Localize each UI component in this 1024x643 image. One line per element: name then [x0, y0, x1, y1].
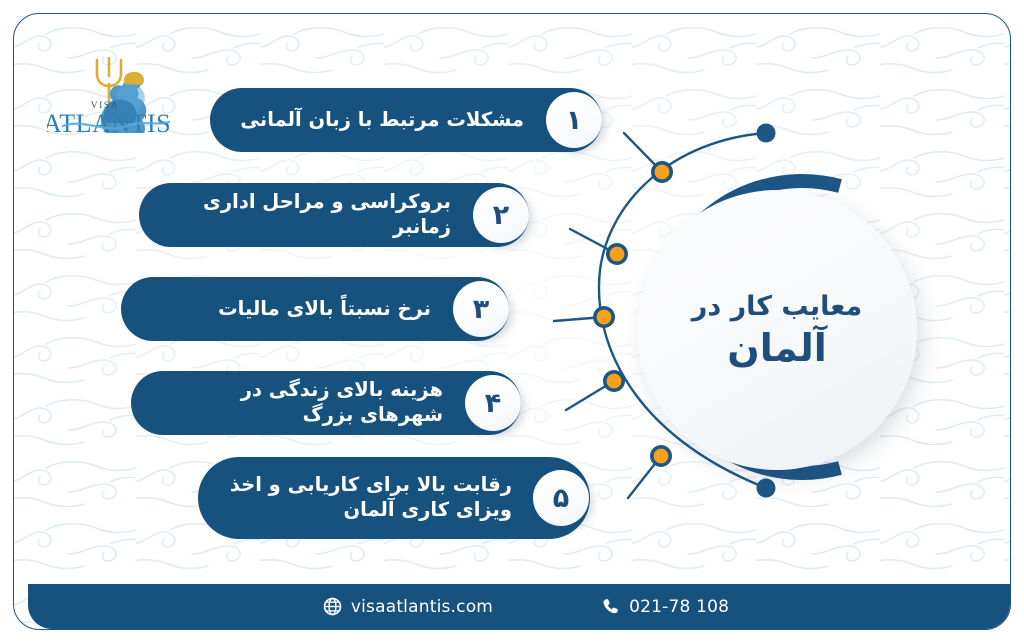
item-number-badge: ۳	[453, 281, 509, 337]
footer-phone-text: 021-78 108	[629, 597, 729, 617]
item-pill[interactable]: رقابت بالا برای کاریابی و اخذ ویزای کاری…	[198, 457, 590, 539]
list-item[interactable]: نرخ نسبتاً بالای مالیات ۳	[121, 277, 509, 341]
item-number-badge: ۵	[533, 470, 589, 526]
hub-title: معایب کار در آلمان	[637, 190, 917, 470]
item-label: بروکراسی و مراحل اداری زمانبر	[165, 190, 451, 240]
item-number-badge: ۴	[465, 375, 521, 431]
brand-logo: VISA ATLANTIS	[47, 44, 175, 144]
item-label: رقابت بالا برای کاریابی و اخذ ویزای کاری…	[224, 473, 512, 523]
infographic-root: VISA ATLANTIS	[0, 0, 1024, 643]
item-pill[interactable]: بروکراسی و مراحل اداری زمانبر	[139, 183, 529, 247]
globe-icon	[323, 597, 342, 616]
list-item[interactable]: هزینه بالای زندگی در شهرهای بزرگ ۴	[131, 371, 521, 435]
footer-website[interactable]: visaatlantis.com	[323, 597, 493, 617]
item-pill[interactable]: نرخ نسبتاً بالای مالیات	[121, 277, 509, 341]
infographic-canvas: VISA ATLANTIS	[13, 13, 1011, 630]
list-item[interactable]: رقابت بالا برای کاریابی و اخذ ویزای کاری…	[198, 457, 590, 539]
central-hub: معایب کار در آلمان	[604, 174, 949, 479]
item-label: مشکلات مرتبط با زبان آلمانی	[236, 108, 524, 133]
item-pill[interactable]: هزینه بالای زندگی در شهرهای بزرگ	[131, 371, 521, 435]
item-number-badge: ۲	[473, 187, 529, 243]
footer-phone[interactable]: 021-78 108	[601, 597, 729, 617]
hub-title-line1: معایب کار در	[692, 291, 862, 322]
hub-title-line2: آلمان	[727, 328, 826, 370]
footer-website-text: visaatlantis.com	[351, 597, 493, 617]
list-item[interactable]: مشکلات مرتبط با زبان آلمانی ۱	[210, 88, 602, 152]
list-item[interactable]: بروکراسی و مراحل اداری زمانبر ۲	[139, 183, 529, 247]
item-label: هزینه بالای زندگی در شهرهای بزرگ	[157, 378, 443, 428]
phone-icon	[601, 597, 620, 616]
item-number-badge: ۱	[546, 92, 602, 148]
item-label: نرخ نسبتاً بالای مالیات	[147, 297, 431, 322]
item-pill[interactable]: مشکلات مرتبط با زبان آلمانی	[210, 88, 602, 152]
footer-bar: visaatlantis.com 021-78 108	[28, 584, 1011, 629]
